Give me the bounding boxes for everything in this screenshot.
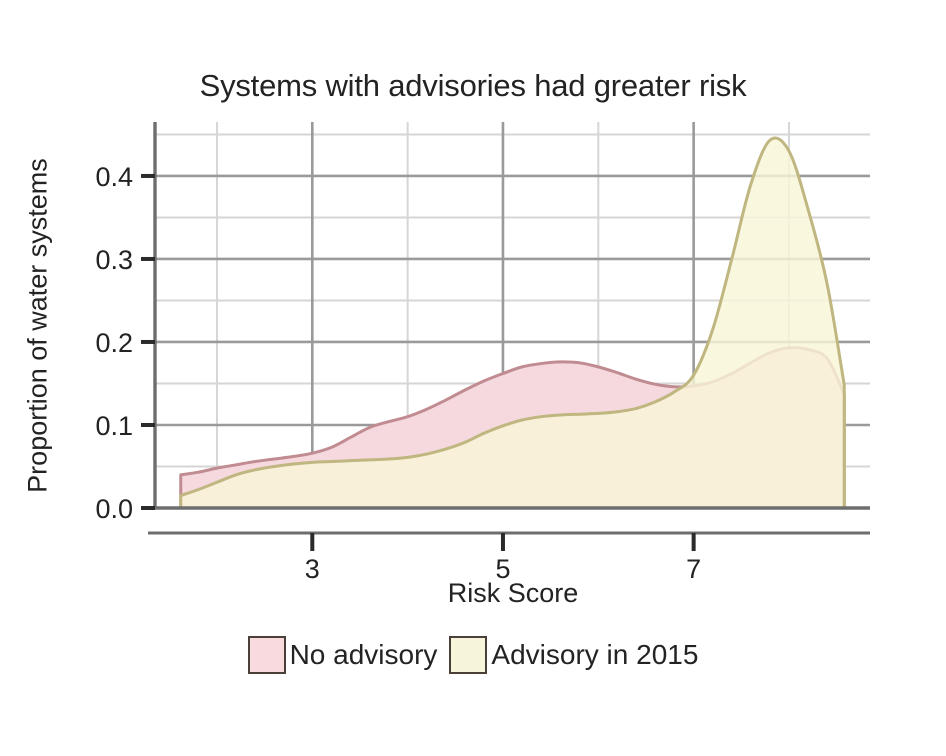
legend-swatch-no-advisory [248,636,286,674]
legend: No advisory Advisory in 2015 [0,636,946,674]
y-tick-label: 0.4 [95,162,133,192]
density-fill-1 [181,138,845,508]
legend-item-no-advisory[interactable]: No advisory [248,636,438,674]
legend-label-advisory-2015: Advisory in 2015 [491,639,698,671]
x-tick-label: 5 [495,554,510,584]
y-tick-label: 0.0 [95,494,133,524]
density-areas [181,138,845,508]
legend-label-no-advisory: No advisory [290,639,438,671]
density-plot-figure: Systems with advisories had greater risk… [0,0,946,756]
y-tick-label: 0.2 [95,328,133,358]
x-tick-label: 3 [305,554,320,584]
legend-item-advisory-2015[interactable]: Advisory in 2015 [449,636,698,674]
legend-swatch-advisory-2015 [449,636,487,674]
y-tick-label: 0.3 [95,245,133,275]
x-tick-label: 7 [686,554,701,584]
y-tick-label: 0.1 [95,411,133,441]
